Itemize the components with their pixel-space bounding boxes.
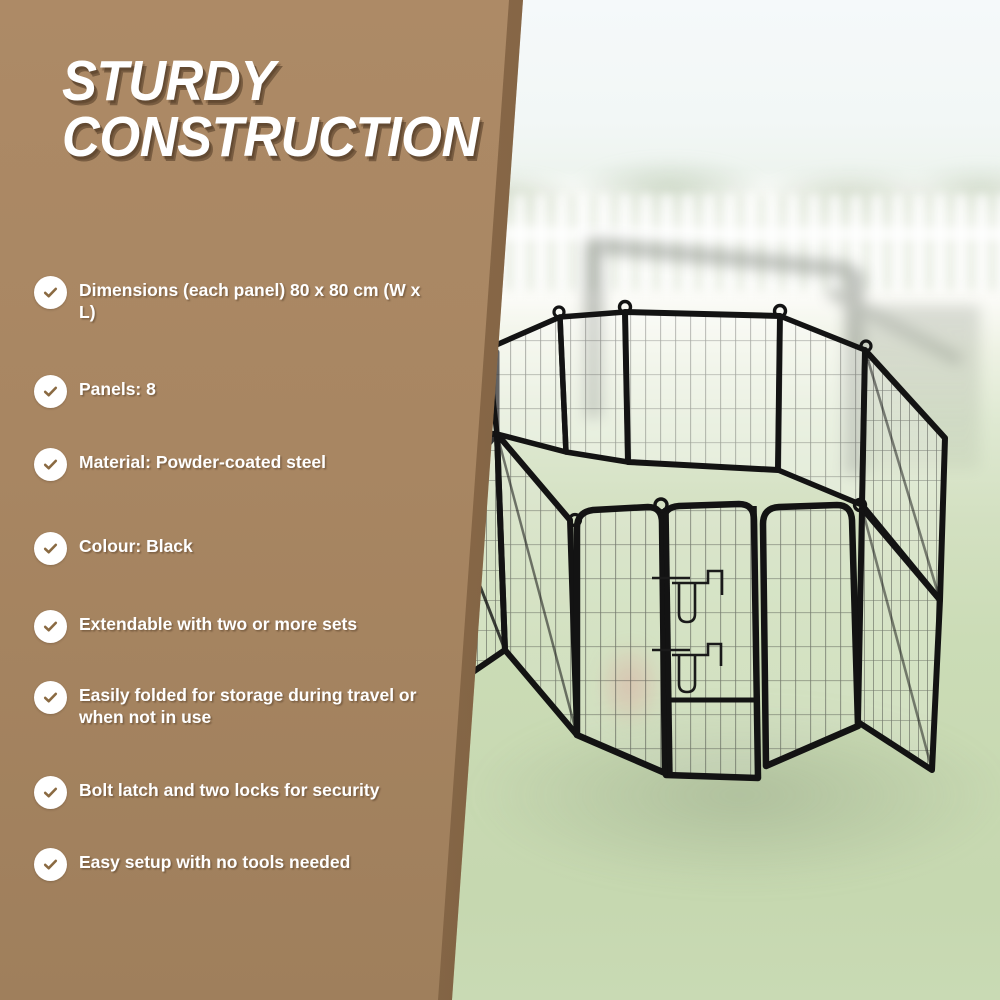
- feature-item-colour: Colour: Black: [34, 532, 439, 565]
- feature-item-security: Bolt latch and two locks for security: [34, 776, 439, 809]
- feature-item-panels: Panels: 8: [34, 375, 439, 408]
- check-circle-icon: [34, 375, 67, 408]
- feature-text: Extendable with two or more sets: [79, 610, 439, 635]
- check-circle-icon: [34, 776, 67, 809]
- feature-text: Colour: Black: [79, 532, 439, 557]
- feature-item-folding: Easily folded for storage during travel …: [34, 681, 439, 729]
- feature-text: Material: Powder-coated steel: [79, 448, 439, 473]
- panel-front-left: [577, 507, 665, 773]
- feature-text: Easily folded for storage during travel …: [79, 681, 439, 729]
- feature-text: Panels: 8: [79, 375, 439, 400]
- panel-rear-center: [620, 302, 786, 471]
- check-circle-icon: [34, 848, 67, 881]
- feature-item-setup: Easy setup with no tools needed: [34, 848, 439, 881]
- feature-item-dimensions: Dimensions (each panel) 80 x 80 cm (W x …: [34, 276, 439, 324]
- feature-text: Dimensions (each panel) 80 x 80 cm (W x …: [79, 276, 439, 324]
- infographic-canvas: STURDY CONSTRUCTION Dimensions (each pan…: [0, 0, 1000, 1000]
- check-circle-icon: [34, 448, 67, 481]
- check-circle-icon: [34, 610, 67, 643]
- check-circle-icon: [34, 681, 67, 714]
- feature-text: Easy setup with no tools needed: [79, 848, 439, 873]
- panel-rear-right: [778, 316, 871, 505]
- feature-text: Bolt latch and two locks for security: [79, 776, 439, 801]
- page-title: STURDY CONSTRUCTION: [62, 54, 448, 166]
- panel-rear-center-left: [554, 307, 628, 462]
- feature-item-extendable: Extendable with two or more sets: [34, 610, 439, 643]
- feature-item-material: Material: Powder-coated steel: [34, 448, 439, 481]
- check-circle-icon: [34, 532, 67, 565]
- panel-gate[interactable]: [652, 504, 758, 778]
- panel-front-right: [763, 505, 858, 766]
- panel-left-lower: [497, 434, 577, 735]
- check-circle-icon: [34, 276, 67, 309]
